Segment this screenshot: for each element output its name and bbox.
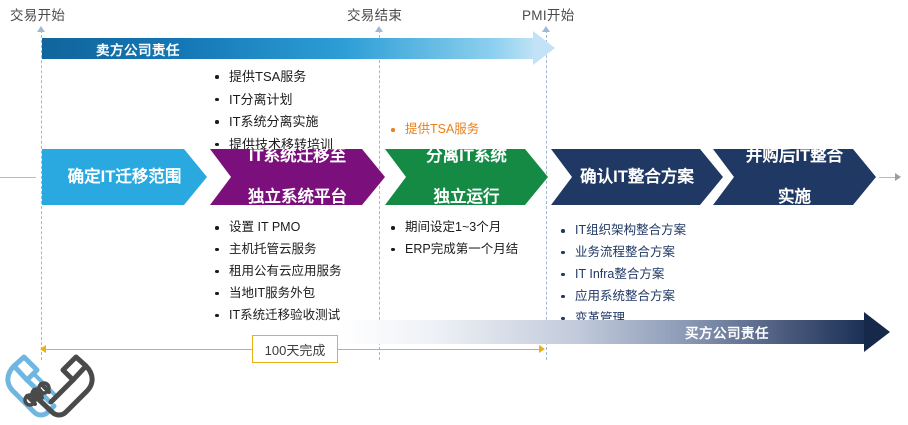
buyer-responsibility-label: 买方公司责任 — [685, 322, 769, 342]
phase-post-merger-it-integration[interactable]: 并购后IT整合 实施 — [713, 149, 876, 205]
buyer-responsibility-arrowhead — [864, 312, 890, 352]
list-item: IT系统分离实施 — [212, 113, 333, 131]
phase-label: IT系统迁移至 独立系统平台 — [236, 146, 359, 208]
phase-label-line-2: 独立系统平台 — [242, 187, 353, 208]
measure-arrow-right — [539, 345, 545, 353]
phase-label-line-2: 实施 — [740, 187, 849, 208]
phase-label: 并购后IT整合 实施 — [734, 146, 855, 208]
guide-arrow-deal-close — [375, 26, 383, 32]
list-item: ERP完成第一个月结 — [388, 241, 518, 258]
measure-label: 100天完成 — [265, 340, 326, 359]
phase-migrate-it-to-standalone[interactable]: IT系统迁移至 独立系统平台 — [210, 149, 385, 205]
diagram-canvas: 交易开始 交易结束 PMI开始 卖方公司责任 提供TSA服务 IT分离计划 IT… — [0, 0, 908, 425]
measure-line-left — [44, 349, 252, 350]
flow-exit-arrowhead — [895, 173, 901, 181]
phase-define-it-migration-scope[interactable]: 确定IT迁移范围 — [42, 149, 207, 205]
list-item: 提供TSA服务 — [212, 68, 333, 86]
flow-exit-line — [879, 177, 896, 178]
seller-responsibility-label: 卖方公司责任 — [96, 39, 180, 59]
list-item: IT Infra整合方案 — [558, 266, 686, 283]
list-item: 租用公有云应用服务 — [212, 263, 342, 280]
seller-task-list: 提供TSA服务 IT分离计划 IT系统分离实施 提供技术移转培训 — [212, 68, 333, 158]
guide-line-pmi-start — [546, 30, 547, 360]
buyer-responsibility-bar: 买方公司责任 — [340, 320, 865, 344]
phase-confirm-it-integration-plan[interactable]: 确认IT整合方案 — [551, 149, 723, 205]
measure-badge: 100天完成 — [252, 335, 338, 363]
phase-label: 确定IT迁移范围 — [62, 167, 188, 188]
phase-label-line-2: 独立运行 — [420, 187, 513, 208]
guide-line-deal-start — [41, 30, 42, 360]
guide-arrow-deal-start — [37, 26, 45, 32]
seller-responsibility-bar: 卖方公司责任 — [42, 38, 534, 59]
list-item: 期间设定1~3个月 — [388, 219, 518, 236]
list-item: 当地IT服务外包 — [212, 285, 342, 302]
list-item: IT系统迁移验收测试 — [212, 307, 342, 324]
milestone-pmi-start-label: PMI开始 — [522, 4, 575, 24]
list-item: 应用系统整合方案 — [558, 288, 686, 305]
list-item: 设置 IT PMO — [212, 219, 342, 236]
handshake-icon — [4, 352, 96, 420]
phase-label-line-1: 分离IT系统 — [420, 146, 513, 167]
tsa-service-note: 提供TSA服务 — [388, 121, 479, 143]
flow-entry-line — [0, 177, 36, 178]
guide-line-deal-close — [379, 30, 380, 360]
list-item: 主机托管云服务 — [212, 241, 342, 258]
list-item: IT组织架构整合方案 — [558, 222, 686, 239]
measure-line-right — [338, 349, 540, 350]
integration-task-list: IT组织架构整合方案 业务流程整合方案 IT Infra整合方案 应用系统整合方… — [558, 222, 686, 331]
list-item: 提供TSA服务 — [388, 121, 479, 138]
milestone-deal-close-label: 交易结束 — [347, 4, 402, 24]
phase-label: 分离IT系统 独立运行 — [414, 146, 519, 208]
list-item: IT分离计划 — [212, 91, 333, 109]
list-item: 业务流程整合方案 — [558, 244, 686, 261]
phase-label-line-1: IT系统迁移至 — [242, 146, 353, 167]
phase-label-line-1: 并购后IT整合 — [740, 146, 849, 167]
phase-separate-it-standalone-run[interactable]: 分离IT系统 独立运行 — [385, 149, 548, 205]
phase-label: 确认IT整合方案 — [574, 167, 700, 188]
seller-responsibility-arrowhead — [533, 31, 555, 65]
milestone-deal-start-label: 交易开始 — [10, 4, 65, 24]
migration-task-list: 设置 IT PMO 主机托管云服务 租用公有云应用服务 当地IT服务外包 IT系… — [212, 219, 342, 328]
standalone-task-list: 期间设定1~3个月 ERP完成第一个月结 — [388, 219, 518, 263]
